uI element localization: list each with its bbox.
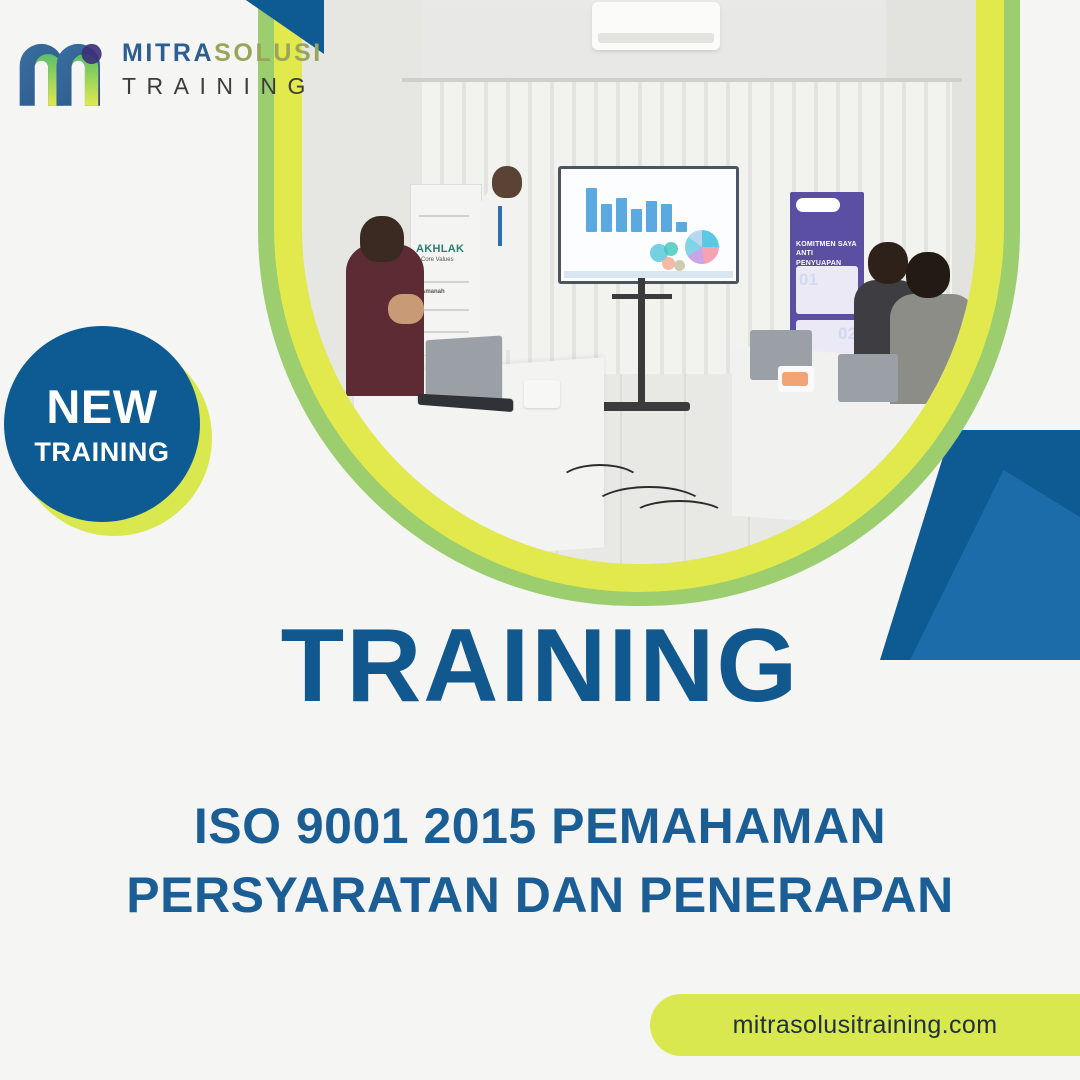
screen-stand-pole bbox=[638, 278, 645, 406]
brand-name-part1: MITRA bbox=[122, 39, 214, 67]
dashboard-pie-chart bbox=[685, 230, 719, 264]
participant-right1-head bbox=[868, 242, 908, 284]
anti-bribery-banner-title: KOMITMEN SAYA ANTI PENYUAPAN bbox=[796, 240, 858, 268]
website-pill[interactable]: mitrasolusitraining.com bbox=[650, 994, 1080, 1056]
akhlak-banner-title: AKHLAK bbox=[416, 243, 464, 255]
presenter-lanyard bbox=[498, 206, 502, 246]
participant-left-hands bbox=[388, 294, 424, 324]
new-training-badge[interactable]: NEW TRAINING bbox=[4, 326, 216, 538]
brand-name-part2: SOLUSI bbox=[214, 39, 323, 67]
laptop-left bbox=[426, 335, 502, 402]
screen-stand-base bbox=[594, 402, 690, 411]
presentation-screen bbox=[558, 166, 739, 284]
mitra-solusi-m-logo-icon bbox=[18, 28, 110, 110]
participant-right2-body bbox=[890, 294, 976, 404]
laptop-right-2 bbox=[838, 354, 898, 402]
presenter-body bbox=[480, 190, 526, 350]
banner-number-01: 01 bbox=[799, 270, 818, 290]
screen-taskbar bbox=[564, 271, 733, 278]
badge-label-new: NEW bbox=[46, 383, 157, 430]
participant-left-head bbox=[360, 216, 404, 262]
banner-logo-chip bbox=[796, 198, 840, 212]
presenter-head bbox=[492, 166, 522, 198]
brand-name-line2: TRAINING bbox=[122, 75, 323, 98]
page-title: TRAINING bbox=[0, 614, 1080, 718]
badge-label-training: TRAINING bbox=[34, 439, 169, 466]
poster-canvas: MITRASOLUSI TRAINING AKHLAK Core Values bbox=[0, 0, 1080, 1080]
projector-box bbox=[524, 380, 560, 408]
akhlak-banner-subtitle: Core Values bbox=[421, 257, 454, 263]
website-url: mitrasolusitraining.com bbox=[733, 1011, 998, 1040]
tissue-box bbox=[778, 366, 814, 392]
photo-frame: AKHLAK Core Values Amanah KOMITMEN SAYA … bbox=[258, 0, 1020, 606]
dashboard-chart bbox=[564, 172, 733, 278]
akhlak-banner-item: Amanah bbox=[421, 289, 445, 295]
subtitle-line-1: ISO 9001 2015 PEMAHAMAN bbox=[60, 792, 1020, 861]
headline-main: TRAINING bbox=[0, 614, 1080, 718]
subtitle-line-2: PERSYARATAN DAN PENERAPAN bbox=[60, 861, 1020, 930]
badge-blue-circle: NEW TRAINING bbox=[4, 326, 200, 522]
air-conditioner-icon bbox=[592, 2, 720, 50]
participant-right2-head bbox=[906, 252, 950, 298]
training-room-photo: AKHLAK Core Values Amanah KOMITMEN SAYA … bbox=[302, 0, 976, 564]
brand-wordmark: MITRASOLUSI TRAINING bbox=[122, 41, 323, 98]
course-subtitle: ISO 9001 2015 PEMAHAMAN PERSYARATAN DAN … bbox=[60, 792, 1020, 930]
photo-scene: AKHLAK Core Values Amanah KOMITMEN SAYA … bbox=[302, 0, 976, 564]
brand-logo[interactable]: MITRASOLUSI TRAINING bbox=[18, 28, 323, 110]
